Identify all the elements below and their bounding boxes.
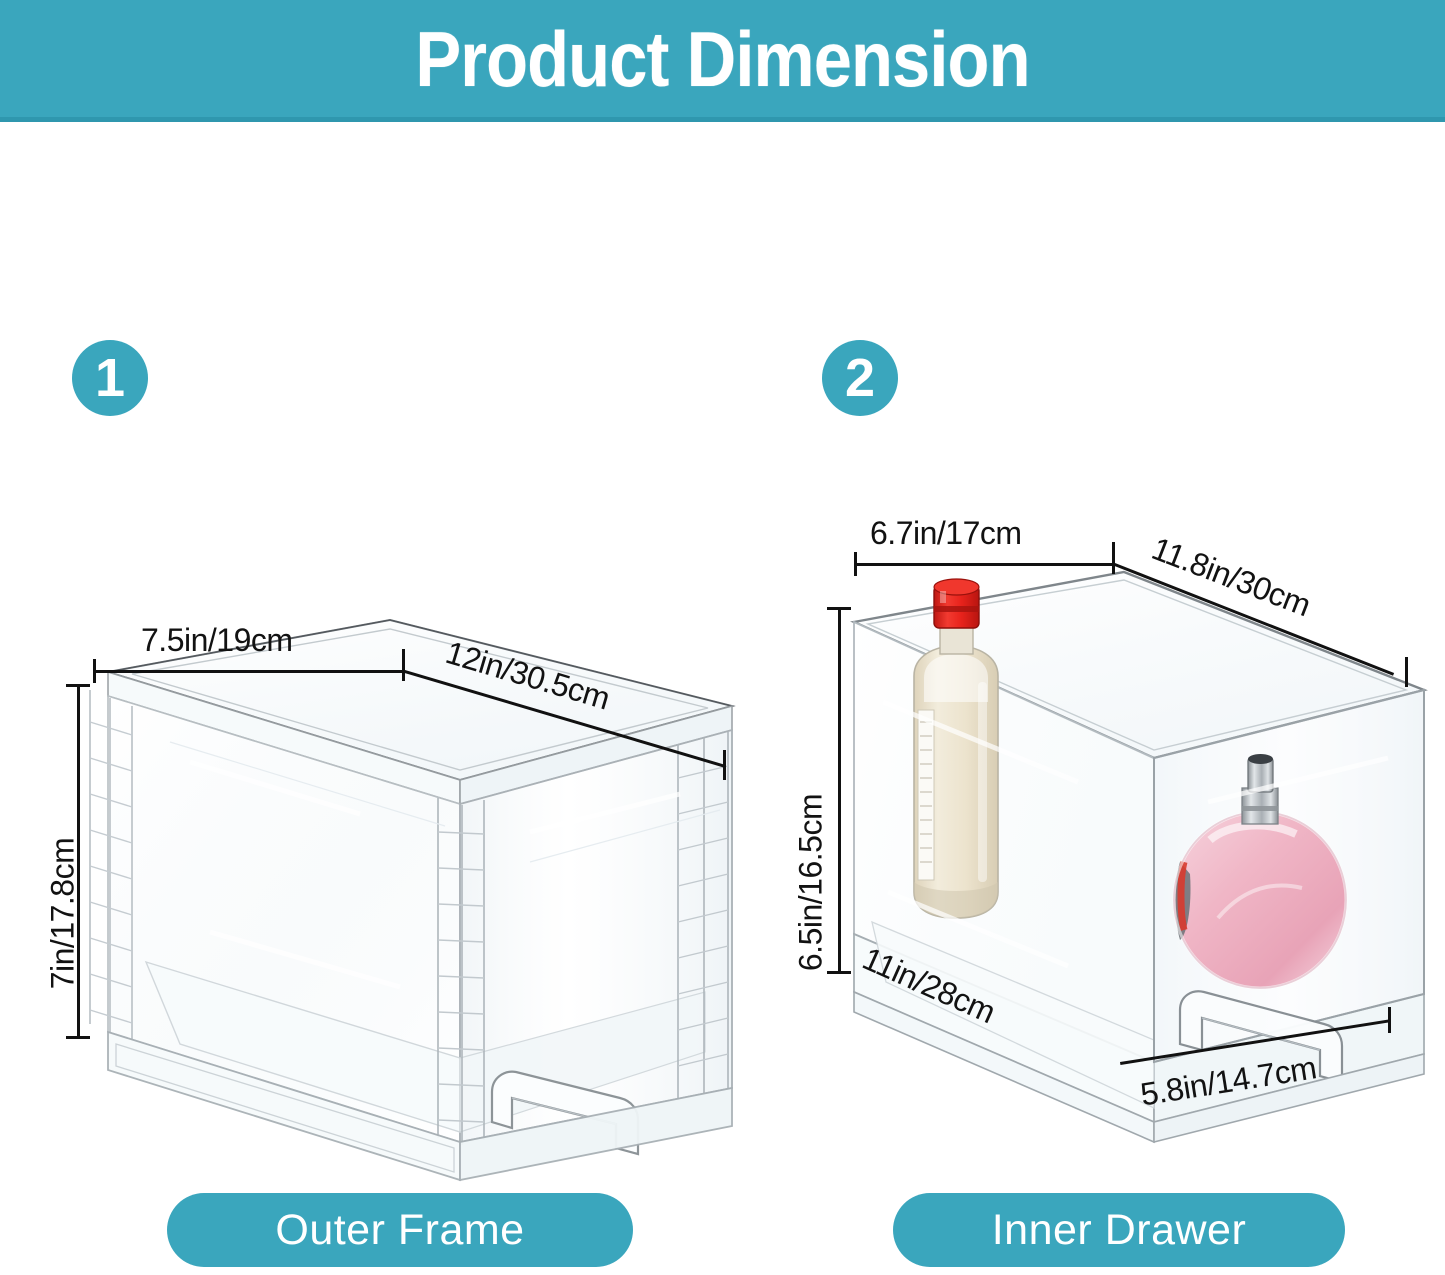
caption-outer-frame-label: Outer Frame (275, 1206, 524, 1255)
step-badge-1-label: 1 (95, 351, 125, 405)
dim-tick-drawer-depth-end (1405, 657, 1408, 687)
dim-tick-drawer-height-top (827, 607, 851, 610)
dim-tick-outer-width-start (93, 659, 96, 683)
panel-inner-drawer: 2 (760, 122, 1445, 1275)
dim-tick-drawer-width-end (1112, 542, 1115, 574)
dim-label-drawer-width: 6.7in/17cm (870, 515, 1022, 552)
dim-line-drawer-height (838, 607, 841, 974)
step-badge-2: 2 (822, 340, 898, 416)
dim-line-outer-height (77, 684, 80, 1039)
dim-label-drawer-height: 6.5in/16.5cm (793, 748, 830, 1018)
caption-inner-drawer: Inner Drawer (893, 1193, 1345, 1267)
panel-outer-frame: 1 (0, 122, 760, 1275)
caption-outer-frame: Outer Frame (167, 1193, 633, 1267)
dim-line-drawer-width (854, 563, 1115, 566)
dim-label-outer-width: 7.5in/19cm (141, 622, 293, 659)
step-badge-2-label: 2 (845, 351, 875, 405)
dim-tick-outer-height-top (66, 684, 90, 687)
dim-tick-drawer-width-start (854, 552, 857, 576)
dim-label-outer-height: 7in/17.8cm (45, 794, 82, 1034)
dim-tick-outer-height-bottom (66, 1036, 90, 1039)
header-banner: Product Dimension (0, 0, 1445, 122)
step-badge-1: 1 (72, 340, 148, 416)
dim-tick-drawer-height-bottom (827, 971, 851, 974)
dim-line-outer-width (93, 670, 405, 673)
page-title: Product Dimension (87, 0, 1359, 118)
dim-tick-drawer-bottom-width-end (1388, 1007, 1391, 1033)
dim-tick-outer-width-end (402, 649, 405, 681)
caption-inner-drawer-label: Inner Drawer (992, 1206, 1247, 1255)
dim-tick-outer-depth-end (723, 750, 726, 780)
